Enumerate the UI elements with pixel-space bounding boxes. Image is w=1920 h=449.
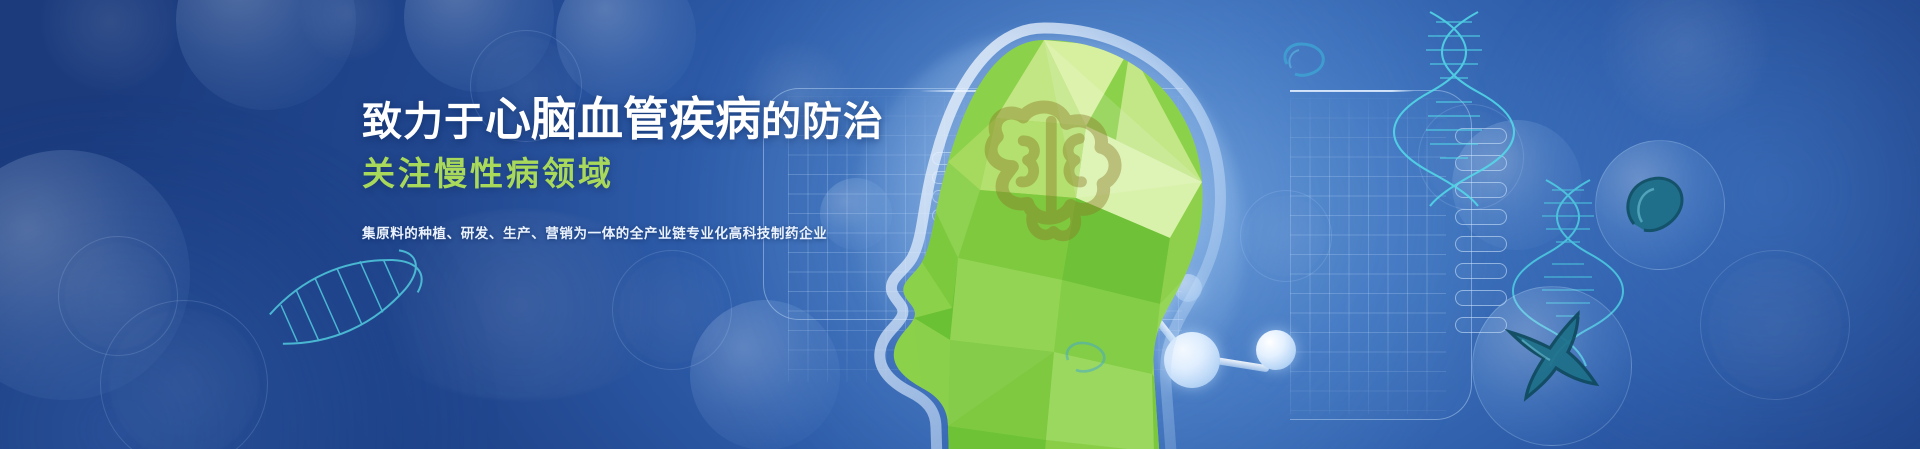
dna-icon xyxy=(268,252,438,362)
hud-top-rule xyxy=(1290,90,1414,92)
headline-suffix: 的防治 xyxy=(761,100,884,144)
hero-banner: 致力于心脑血管疾病的防治 关注慢性病领域 集原料的种植、研发、生产、营销为一体的… xyxy=(0,0,1920,449)
bokeh-icon xyxy=(1700,250,1850,400)
headline-prefix: 致力于 xyxy=(362,100,485,144)
bacteria-icon xyxy=(1060,336,1116,380)
headline-emphasis: 心脑血管疾病 xyxy=(485,93,761,145)
bokeh-icon xyxy=(40,0,180,92)
head-icon xyxy=(830,22,1300,449)
hud-bar xyxy=(1455,290,1507,306)
tagline: 集原料的种植、研发、生产、营销为一体的全产业链专业化高科技制药企业 xyxy=(362,222,884,242)
hud-bar xyxy=(1455,263,1507,279)
hud-bar xyxy=(1455,209,1507,225)
page-subtitle: 关注慢性病领域 xyxy=(362,154,884,194)
hud-bar xyxy=(1455,236,1507,252)
hero-copy: 致力于心脑血管疾病的防治 关注慢性病领域 集原料的种植、研发、生产、营销为一体的… xyxy=(362,92,884,242)
head-graphic xyxy=(830,22,1300,449)
bacteria-icon xyxy=(1277,38,1337,84)
page-title: 致力于心脑血管疾病的防治 xyxy=(362,92,884,146)
bacteria-icon xyxy=(1492,306,1612,426)
bacteria-icon xyxy=(1612,162,1702,252)
dna-icon xyxy=(1400,8,1520,208)
